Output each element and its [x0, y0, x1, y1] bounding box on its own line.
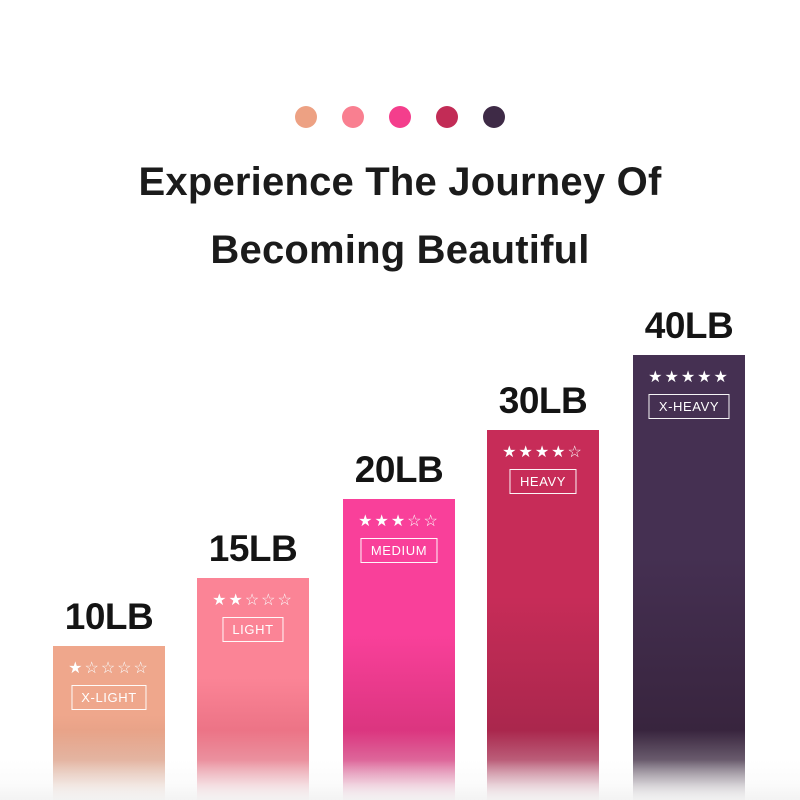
bar-fade-x-heavy: [633, 730, 745, 800]
bar-group-x-light: 10LB ★☆☆☆☆ X-LIGHT: [53, 586, 165, 800]
bar-badge-light: ★★☆☆☆ LIGHT: [201, 592, 304, 642]
bar-light[interactable]: ★★☆☆☆ LIGHT: [197, 578, 309, 800]
level-label-x-light: X-LIGHT: [71, 685, 146, 710]
bar-weight-label-x-light: 10LB: [65, 596, 153, 638]
resistance-band-bar-chart: 10LB ★☆☆☆☆ X-LIGHT 15LB ★★☆☆☆ LIGHT: [0, 0, 800, 800]
bar-group-heavy: 30LB ★★★★☆ HEAVY: [487, 370, 599, 800]
level-label-light: LIGHT: [222, 617, 283, 642]
bar-fade-x-light: [53, 730, 165, 800]
bar-x-light[interactable]: ★☆☆☆☆ X-LIGHT: [53, 646, 165, 800]
level-label-heavy: HEAVY: [510, 469, 576, 494]
star-rating-medium: ★★★☆☆: [347, 513, 450, 531]
bar-weight-label-light: 15LB: [209, 528, 297, 570]
level-label-medium: MEDIUM: [361, 538, 437, 563]
bar-group-medium: 20LB ★★★☆☆ MEDIUM: [343, 439, 455, 800]
bar-weight-label-x-heavy: 40LB: [645, 305, 733, 347]
bar-group-light: 15LB ★★☆☆☆ LIGHT: [197, 518, 309, 800]
star-rating-light: ★★☆☆☆: [201, 592, 304, 610]
level-label-x-heavy: X-HEAVY: [649, 394, 729, 419]
bar-fade-medium: [343, 730, 455, 800]
bar-badge-medium: ★★★☆☆ MEDIUM: [347, 513, 450, 563]
bar-x-heavy[interactable]: ★★★★★ X-HEAVY: [633, 355, 745, 800]
star-rating-x-light: ★☆☆☆☆: [57, 660, 160, 678]
infographic-canvas: Experience The Journey Of Becoming Beaut…: [0, 0, 800, 800]
bar-medium[interactable]: ★★★☆☆ MEDIUM: [343, 499, 455, 800]
bar-group-x-heavy: 40LB ★★★★★ X-HEAVY: [633, 295, 745, 800]
bar-weight-label-medium: 20LB: [355, 449, 443, 491]
bar-badge-x-light: ★☆☆☆☆ X-LIGHT: [57, 660, 160, 710]
bar-fade-heavy: [487, 730, 599, 800]
star-rating-heavy: ★★★★☆: [491, 444, 594, 462]
bar-heavy[interactable]: ★★★★☆ HEAVY: [487, 430, 599, 800]
bar-fade-light: [197, 730, 309, 800]
bar-weight-label-heavy: 30LB: [499, 380, 587, 422]
star-rating-x-heavy: ★★★★★: [637, 369, 740, 387]
bar-badge-x-heavy: ★★★★★ X-HEAVY: [637, 369, 740, 419]
bar-badge-heavy: ★★★★☆ HEAVY: [491, 444, 594, 494]
